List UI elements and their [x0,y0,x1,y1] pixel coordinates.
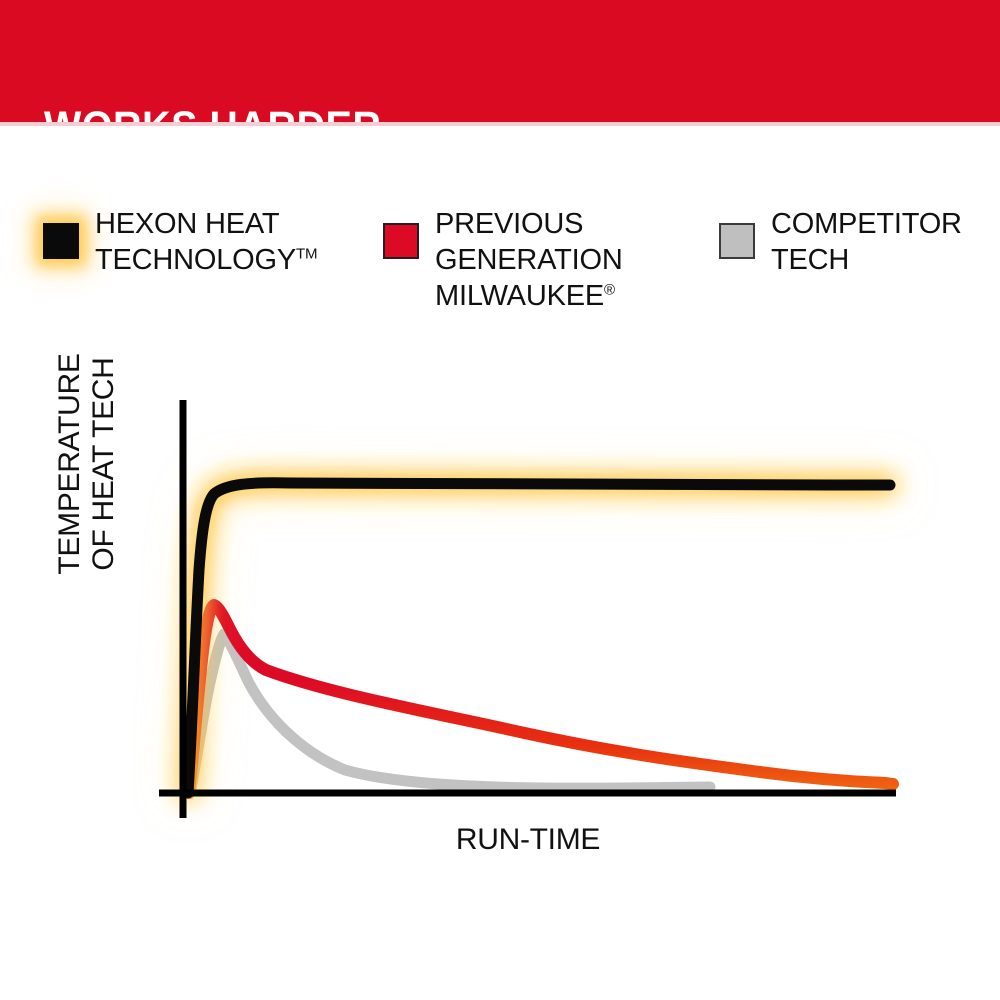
legend-label-competitor-tech: COMPETITOR TECH [771,206,962,278]
header-banner: WORKS HARDER IN FREEZING TEMPS [0,0,1000,122]
banner-title: WORKS HARDER IN FREEZING TEMPS [44,12,450,122]
chart-legend: HEXON HEAT TECHNOLOGYTM PREVIOUS GENERAT… [0,206,1000,336]
banner-title-line-1: WORKS HARDER [44,104,450,122]
plot-area [188,483,893,793]
legend-label-previous-generation-milwaukee: PREVIOUS GENERATION MILWAUKEE® [435,206,623,314]
legend-swatch-competitor-tech-icon [719,223,755,259]
legend-item-previous-generation-milwaukee: PREVIOUS GENERATION MILWAUKEE® [383,206,623,314]
x-axis-title: RUN-TIME [160,823,896,857]
trademark-symbol: TM [296,245,317,262]
legend-label-text-1: PREVIOUS GENERATION MILWAUKEE [435,208,623,312]
chart-axes [159,400,896,818]
legend-item-hexon-heat-technology: HEXON HEAT TECHNOLOGYTM [43,206,317,278]
legend-label-text-2: COMPETITOR TECH [771,208,962,276]
legend-swatch-hexon-heat-technology-icon [43,223,79,259]
legend-label-hexon-heat-technology: HEXON HEAT TECHNOLOGYTM [95,206,317,278]
series-line-competitor-tech [190,634,710,793]
series-line-hexon-heat-technology [188,483,890,793]
banner-underline [0,122,1000,126]
y-axis-title: TEMPERATURE OF HEAT TECH [53,299,121,629]
promo-infographic: WORKS HARDER IN FREEZING TEMPS HEXON HEA… [0,0,1000,1000]
legend-label-text-0: HEXON HEAT TECHNOLOGY [95,208,296,276]
legend-item-competitor-tech: COMPETITOR TECH [719,206,962,278]
registered-symbol: ® [604,281,615,298]
series-glow-hexon-heat-technology [188,483,890,793]
legend-swatch-previous-generation-milwaukee-icon [383,223,419,259]
series-line-previous-generation-milwaukee [189,605,893,793]
